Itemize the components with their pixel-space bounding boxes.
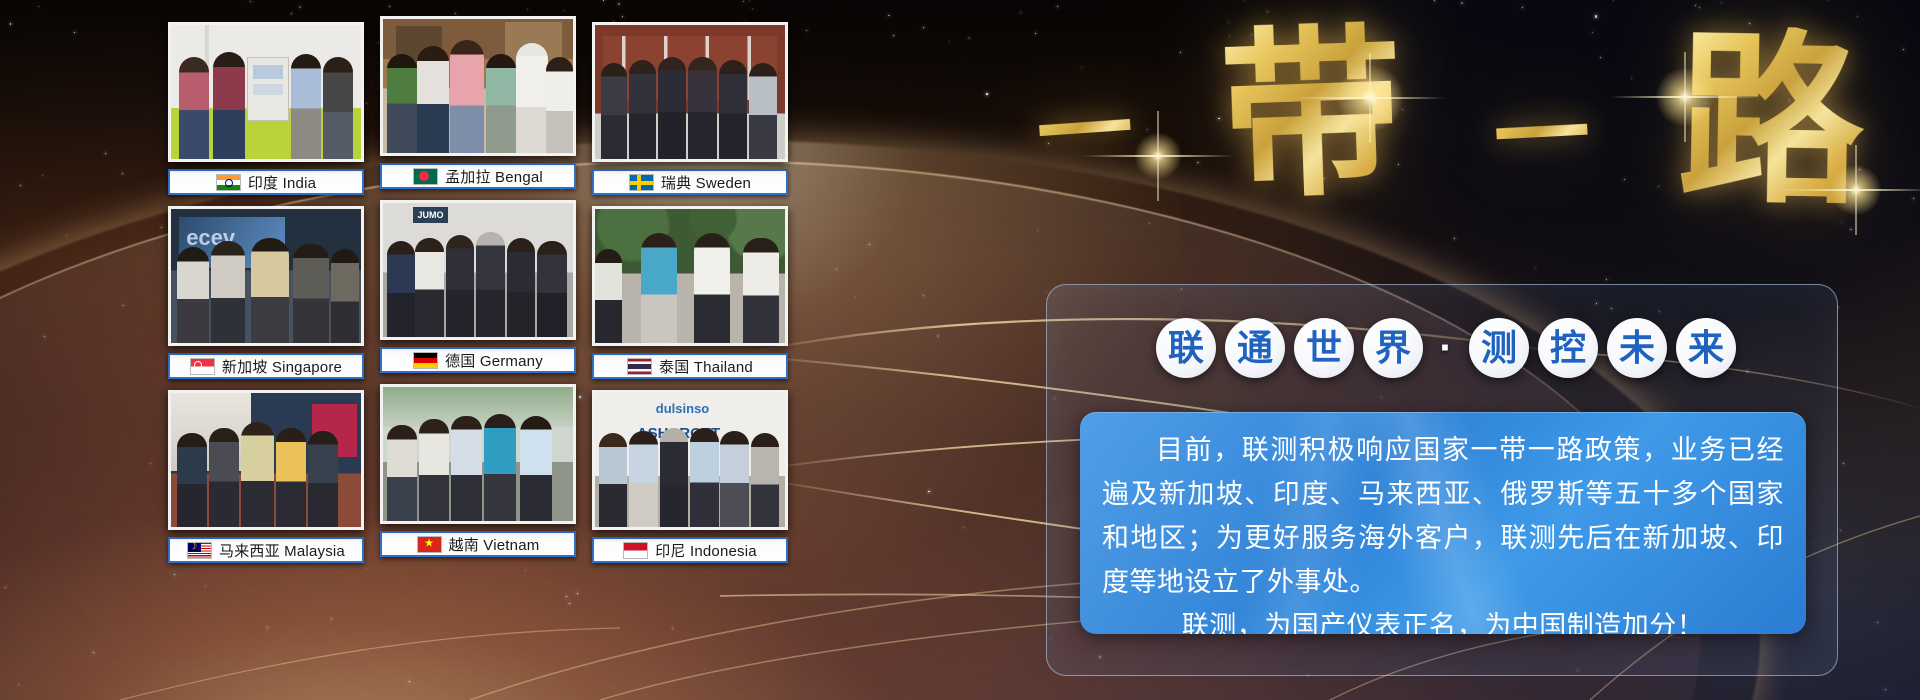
photo-bengal: [380, 16, 576, 156]
gallery-item-thailand[interactable]: 泰国 Thailand: [592, 206, 788, 379]
gallery-item-bengal[interactable]: 孟加拉 Bengal: [380, 16, 576, 189]
star-dot: [603, 0, 604, 1]
gallery-label-text: 印度 India: [248, 172, 316, 193]
star-dot: [963, 527, 964, 528]
star-dot: [923, 27, 924, 28]
star-dot: [564, 10, 565, 11]
star-dot: [291, 13, 292, 14]
gallery-item-malaysia[interactable]: 马来西亚 Malaysia: [168, 390, 364, 563]
flag-thailand-icon: [627, 358, 652, 375]
gallery-label: 瑞典 Sweden: [592, 169, 788, 195]
star-dot: [455, 13, 456, 14]
flag-vietnam-icon: [417, 536, 442, 553]
gallery-label: 泰国 Thailand: [592, 353, 788, 379]
star-dot: [74, 32, 75, 33]
star-dot: [10, 23, 12, 25]
gallery-label-text: 瑞典 Sweden: [661, 172, 751, 193]
star-dot: [749, 0, 750, 1]
gallery-label: 印尼 Indonesia: [592, 537, 788, 563]
star-dot: [1606, 279, 1607, 280]
star-dot: [123, 305, 124, 306]
star-dot: [937, 335, 939, 337]
slogan-char-shi: 世: [1294, 318, 1354, 378]
gallery-label-text: 泰国 Thailand: [659, 356, 753, 377]
star-dot: [66, 235, 67, 236]
star-dot: [986, 93, 988, 95]
flag-malaysia-icon: [187, 542, 212, 559]
star-dot: [105, 153, 106, 154]
star-dot: [1046, 291, 1047, 292]
star-dot: [888, 15, 890, 17]
star-dot: [1613, 0, 1614, 1]
star-dot: [527, 9, 528, 10]
star-dot: [1840, 530, 1841, 531]
star-dot: [928, 491, 930, 493]
star-dot: [869, 244, 870, 245]
star-dot: [20, 185, 21, 186]
flag-germany-icon: [413, 352, 438, 369]
calligraphy-char-3: 一: [1491, 86, 1592, 187]
gallery-item-india[interactable]: 印度 India: [168, 22, 364, 195]
belt-and-road-calligraphy: 一 带 一 路: [1020, 8, 1880, 228]
gallery-item-vietnam[interactable]: 越南 Vietnam: [380, 384, 576, 557]
star-dot: [923, 295, 924, 296]
company-slogan: 联 通 世 界 · 测 控 未 来: [1156, 312, 1736, 384]
slogan-char-lian: 联: [1156, 318, 1216, 378]
star-dot: [1903, 49, 1904, 50]
calligraphy-char-1: 一: [1034, 81, 1136, 183]
gallery-label-text: 德国 Germany: [445, 350, 543, 371]
star-dot: [836, 269, 837, 270]
gallery-item-indonesia[interactable]: dulsinso ASHCROFT 印尼 Indonesia: [592, 390, 788, 563]
description-paragraph-2: 联测，为国产仪表正名，为中国制造加分！: [1102, 604, 1784, 634]
star-dot: [1461, 2, 1463, 4]
gallery-label-text: 印尼 Indonesia: [655, 540, 757, 561]
flag-singapore-icon: [190, 358, 215, 375]
star-dot: [743, 1, 744, 2]
gallery-label: 马来西亚 Malaysia: [168, 537, 364, 563]
description-paragraph-1: 目前，联测积极响应国家一带一路政策，业务已经遍及新加坡、印度、马来西亚、俄罗斯等…: [1102, 428, 1784, 604]
gallery-item-germany[interactable]: JUMO 德国 Germany: [380, 200, 576, 373]
star-dot: [38, 6, 39, 7]
photo-malaysia: [168, 390, 364, 530]
star-dot: [1695, 5, 1696, 6]
star-dot: [752, 8, 753, 9]
star-dot: [618, 3, 620, 5]
slogan-char-ce: 测: [1469, 318, 1529, 378]
gallery-label: 印度 India: [168, 169, 364, 195]
gallery-label: 德国 Germany: [380, 347, 576, 373]
photo-indonesia: dulsinso ASHCROFT: [592, 390, 788, 530]
star-dot: [969, 38, 970, 39]
star-dot: [1843, 463, 1844, 464]
star-dot: [1535, 267, 1536, 268]
star-dot: [893, 35, 894, 36]
gallery-label-text: 越南 Vietnam: [449, 534, 540, 555]
star-dot: [949, 41, 950, 42]
star-dot: [1454, 238, 1455, 239]
flag-india-icon: [216, 174, 241, 191]
photo-thailand: [592, 206, 788, 346]
star-dot: [122, 173, 123, 174]
flag-sweden-icon: [629, 174, 654, 191]
calligraphy-char-4: 路: [1676, 25, 1865, 214]
star-dot: [1877, 622, 1878, 623]
star-dot: [5, 587, 6, 588]
photo-india: [168, 22, 364, 162]
slogan-char-tong: 通: [1225, 318, 1285, 378]
gallery-label-text: 新加坡 Singapore: [222, 356, 342, 377]
star-dot: [1885, 689, 1886, 690]
flag-indonesia-icon: [623, 542, 648, 559]
photo-singapore: ecev: [168, 206, 364, 346]
slogan-char-wei: 未: [1607, 318, 1667, 378]
star-dot: [389, 6, 390, 7]
flag-bangladesh-icon: [413, 168, 438, 185]
photo-sweden: [592, 22, 788, 162]
star-dot: [42, 175, 43, 176]
slogan-char-jie: 界: [1363, 318, 1423, 378]
gallery-label-text: 孟加拉 Bengal: [445, 166, 543, 187]
gallery-item-singapore[interactable]: ecev 新加坡 Singapore: [168, 206, 364, 379]
gallery-item-sweden[interactable]: 瑞典 Sweden: [592, 22, 788, 195]
star-dot: [1434, 0, 1435, 1]
banner-stage: 印度 India 孟加拉 Bengal: [0, 0, 1920, 700]
photo-vietnam: [380, 384, 576, 524]
star-dot: [806, 30, 807, 31]
photo-germany: JUMO: [380, 200, 576, 340]
star-dot: [44, 336, 45, 337]
star-dot: [1057, 6, 1058, 7]
slogan-separator: ·: [1432, 326, 1460, 371]
description-box: 目前，联测积极响应国家一带一路政策，业务已经遍及新加坡、印度、马来西亚、俄罗斯等…: [1080, 412, 1806, 634]
star-dot: [1721, 2, 1722, 3]
star-dot: [299, 6, 301, 8]
star-dot: [250, 1, 251, 2]
star-dot: [1913, 198, 1914, 199]
gallery-label: 越南 Vietnam: [380, 531, 576, 557]
star-dot: [1827, 0, 1828, 1]
slogan-char-lai: 来: [1676, 318, 1736, 378]
star-dot: [18, 684, 19, 685]
star-dot: [1037, 230, 1038, 231]
gallery-label: 新加坡 Singapore: [168, 353, 364, 379]
star-dot: [1244, 0, 1245, 1]
country-photo-grid: 印度 India 孟加拉 Bengal: [130, 16, 770, 684]
star-dot: [855, 296, 856, 297]
calligraphy-char-2: 带: [1218, 20, 1406, 208]
slogan-char-kong: 控: [1538, 318, 1598, 378]
star-dot: [93, 652, 94, 653]
gallery-label-text: 马来西亚 Malaysia: [219, 540, 345, 561]
gallery-label: 孟加拉 Bengal: [380, 163, 576, 189]
